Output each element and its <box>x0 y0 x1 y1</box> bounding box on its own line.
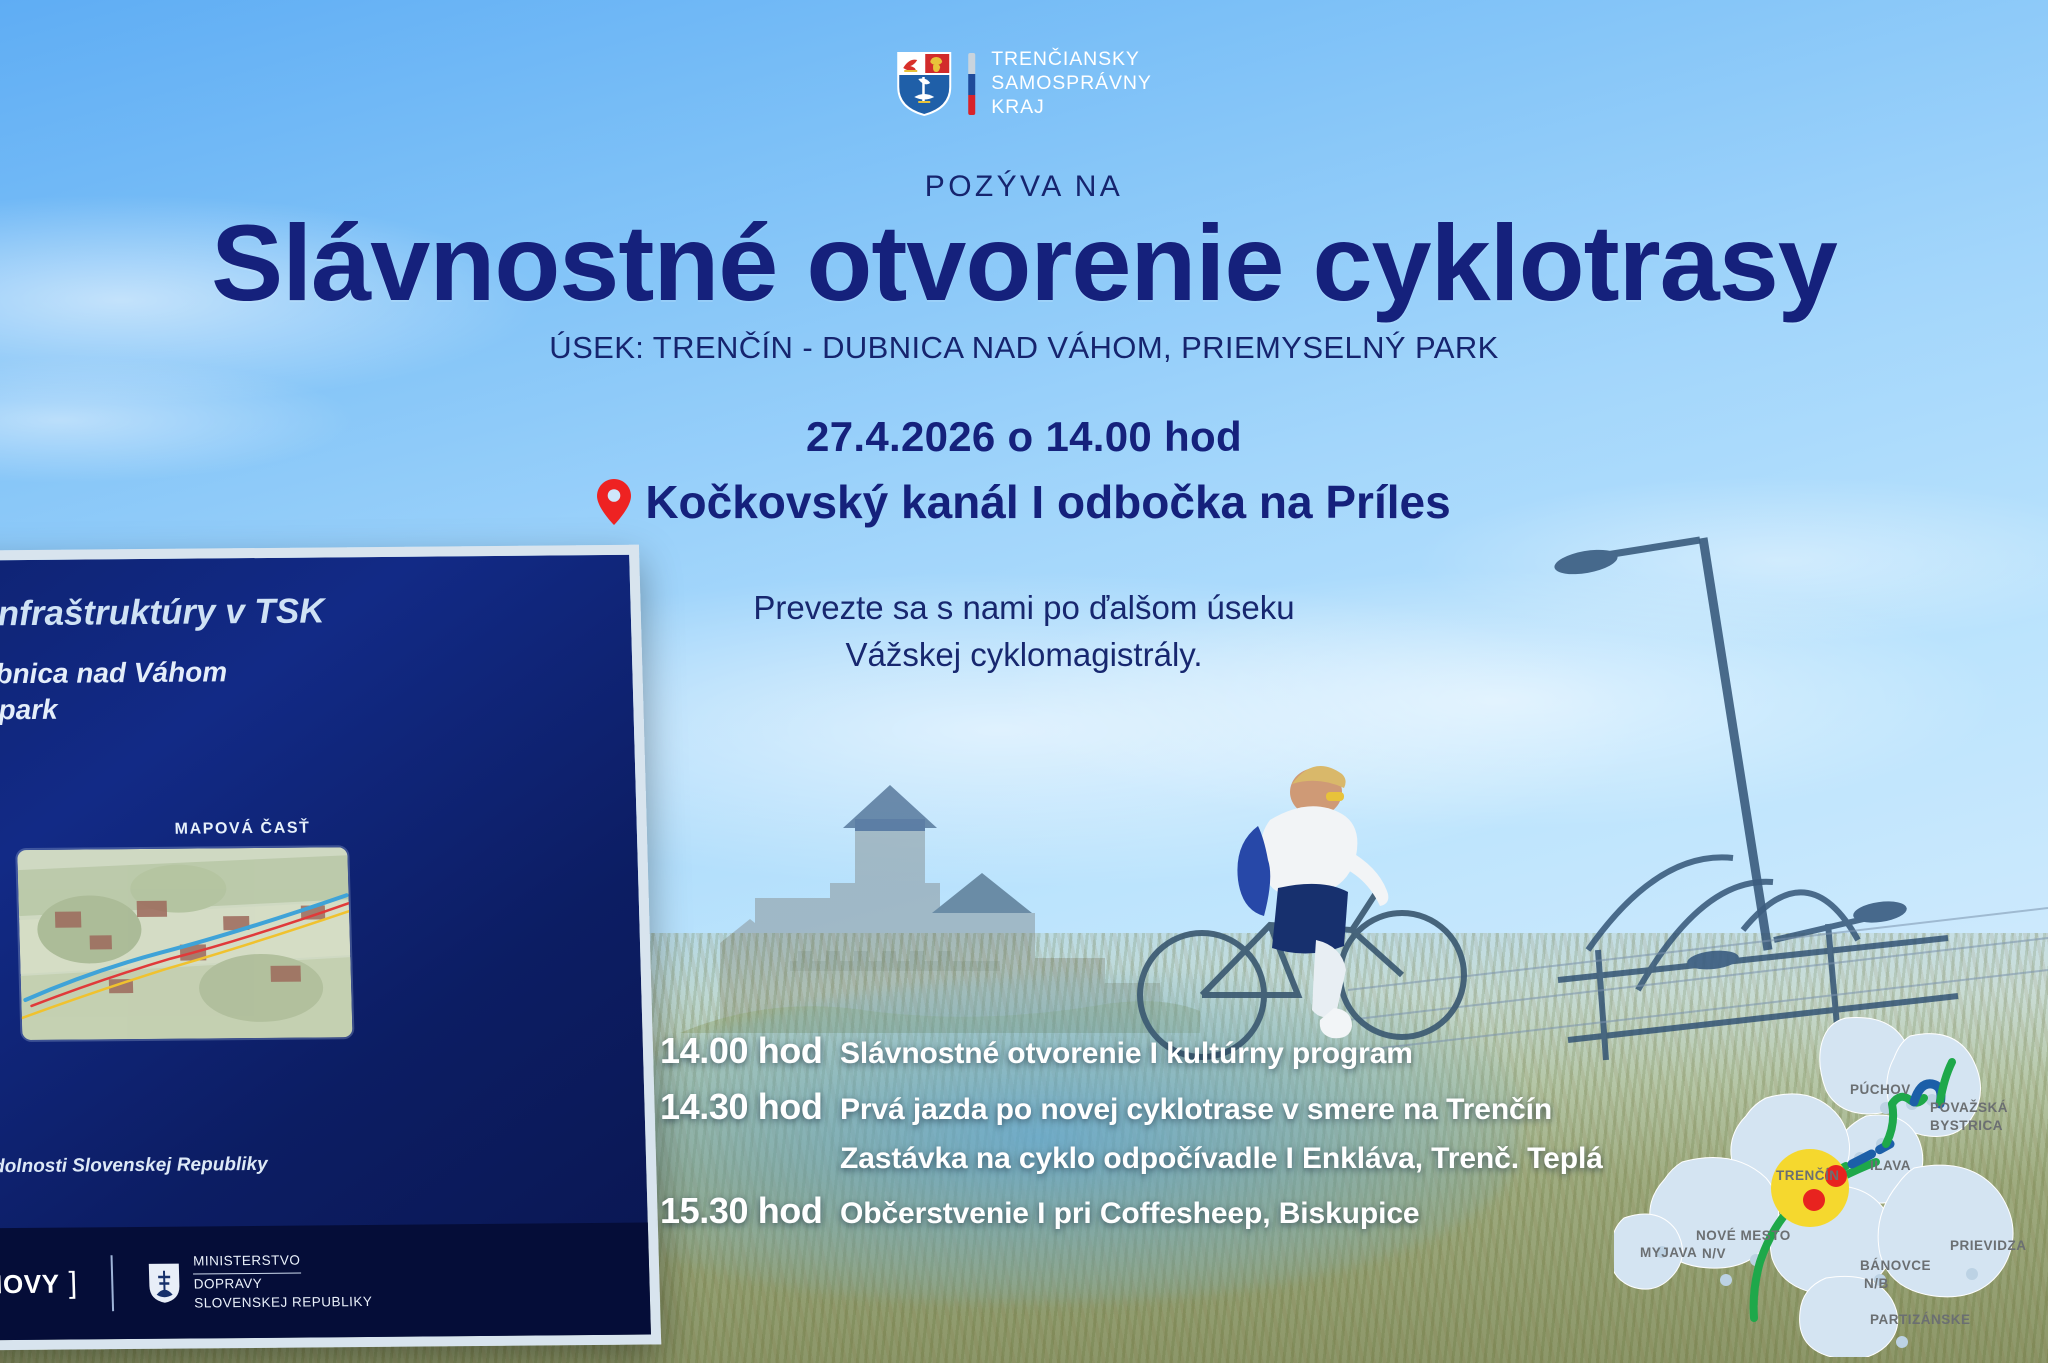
schedule-description: Občerstvenie I pri Coffesheep, Biskupice <box>840 1197 1420 1231</box>
schedule-row: 14.00 hod Slávnostné otvorenie I kultúrn… <box>660 1030 1660 1072</box>
schedule-description: Prvá jazda po novej cyklotrase v smere n… <box>840 1093 1552 1127</box>
cyclist-illustration <box>1120 730 1480 1070</box>
plan-obnovy-logo: PLÁN [ OBNOVY ] <box>0 1267 78 1303</box>
district-label: PÚCHOV <box>1850 1082 1911 1097</box>
event-date: 27.4.2026 o 14.00 hod <box>0 413 2048 461</box>
plan-obnovy-bracket-word: OBNOVY <box>0 1268 60 1300</box>
tsk-logo[interactable]: TRENČIANSKY SAMOSPRÁVNY KRAJ <box>896 48 1152 119</box>
event-place-text: Kočkovský kanál I odbočka na Príles <box>645 475 1450 529</box>
logo-line-2: SAMOSPRÁVNY <box>991 72 1152 96</box>
bracket-right-icon: ] <box>68 1267 78 1301</box>
ministry-text-block: MINISTERSTVO DOPRAVY SLOVENSKEJ REPUBLIK… <box>193 1250 373 1313</box>
billboard-footer-text: …inu obnovy a odolnosti Slovenskej Repub… <box>0 1154 268 1180</box>
district-label: MYJAVA <box>1640 1245 1697 1260</box>
schedule-description: Slávnostné otvorenie I kultúrny program <box>840 1037 1413 1071</box>
page-title: Slávnostné otvorenie cyklotrasy <box>0 210 2048 316</box>
map-pin-icon <box>597 479 631 525</box>
intro-paragraph: Prevezte sa s nami po ďalšom úseku Vážsk… <box>0 585 2048 679</box>
district-label: N/B <box>1864 1276 1889 1291</box>
billboard-subheading-line2: priemyselný park <box>0 687 604 730</box>
schedule-time: 14.30 hod <box>660 1086 840 1128</box>
kicker-text: POZÝVA NA <box>0 170 2048 204</box>
district-label: ILAVA <box>1870 1158 1911 1173</box>
district-shape-prievidza <box>1878 1165 2013 1297</box>
logo-line-1: TRENČIANSKY <box>991 48 1152 72</box>
billboard-map-label: MAPOVÁ ČASŤ <box>174 820 310 839</box>
billboard-meta-item: …ny kraj <box>0 757 606 804</box>
event-datetime-block: 27.4.2026 o 14.00 hod Kočkovský kanál I … <box>0 413 2048 529</box>
ministry-line-1: MINISTERSTVO <box>193 1251 301 1274</box>
logo-divider <box>111 1255 115 1311</box>
billboard-route-map <box>17 847 352 1040</box>
billboard-meta-item: …020 MG <box>0 1036 614 1083</box>
billboard-logo-bar: PLÁN [ OBNOVY ] MINISTERSTVO DOPRAVY SLO… <box>0 1223 651 1342</box>
district-label: PRIEVIDZA <box>1950 1238 2027 1253</box>
schedule-time: 15.30 hod <box>660 1190 840 1232</box>
district-label: PARTIZÁNSKE <box>1870 1312 1971 1327</box>
ministry-line-2: DOPRAVY <box>193 1273 372 1294</box>
route-subtitle: ÚSEK: TRENČÍN - DUBNICA NAD VÁHOM, PRIEM… <box>0 330 2048 366</box>
trencin-region-coat-of-arms-icon <box>896 51 952 117</box>
intro-line-1: Prevezte sa s nami po ďalšom úseku <box>0 585 2048 632</box>
poster-canvas: …istickej infraštruktúry v TSK Trenčín –… <box>0 0 2048 1363</box>
intro-line-2: Vážskej cyklomagistrály. <box>0 632 2048 679</box>
district-label: TRENČÍN <box>1776 1168 1840 1183</box>
route-highlight-circle <box>1771 1149 1849 1227</box>
headline-block: POZÝVA NA Slávnostné otvorenie cyklotras… <box>0 170 2048 366</box>
schedule-description: Zastávka na cyklo odpočívadle I Enkláva,… <box>840 1142 1603 1176</box>
district-label: N/V <box>1702 1246 1726 1261</box>
ministry-line-3: SLOVENSKEJ REPUBLIKY <box>194 1292 373 1313</box>
schedule-row: Zastávka na cyklo odpočívadle I Enkláva,… <box>660 1142 1660 1176</box>
trencin-region-district-map: MYJAVA NOVÉ MESTO N/V TRENČÍN ILAVA PÚCH… <box>1614 1012 2044 1357</box>
logo-line-3: KRAJ <box>991 96 1152 120</box>
event-place-row: Kočkovský kanál I odbočka na Príles <box>0 475 2048 529</box>
district-label: BYSTRICA <box>1930 1118 2003 1133</box>
ministry-of-transport-logo: MINISTERSTVO DOPRAVY SLOVENSKEJ REPUBLIK… <box>147 1250 373 1314</box>
route-marker-start <box>1803 1189 1825 1211</box>
district-label: NOVÉ MESTO <box>1696 1228 1791 1243</box>
logo-text-block: TRENČIANSKY SAMOSPRÁVNY KRAJ <box>991 48 1152 119</box>
schedule-row: 15.30 hod Občerstvenie I pri Coffesheep,… <box>660 1190 1660 1232</box>
district-label: POVAŽSKÁ <box>1930 1100 2008 1115</box>
schedule-time: 14.00 hod <box>660 1030 840 1072</box>
logo-divider-bar <box>968 53 975 115</box>
district-label: BÁNOVCE <box>1860 1258 1931 1273</box>
slovak-coat-of-arms-icon <box>147 1262 182 1304</box>
schedule-row: 14.30 hod Prvá jazda po novej cyklotrase… <box>660 1086 1660 1128</box>
event-schedule: 14.00 hod Slávnostné otvorenie I kultúrn… <box>660 1030 1660 1246</box>
